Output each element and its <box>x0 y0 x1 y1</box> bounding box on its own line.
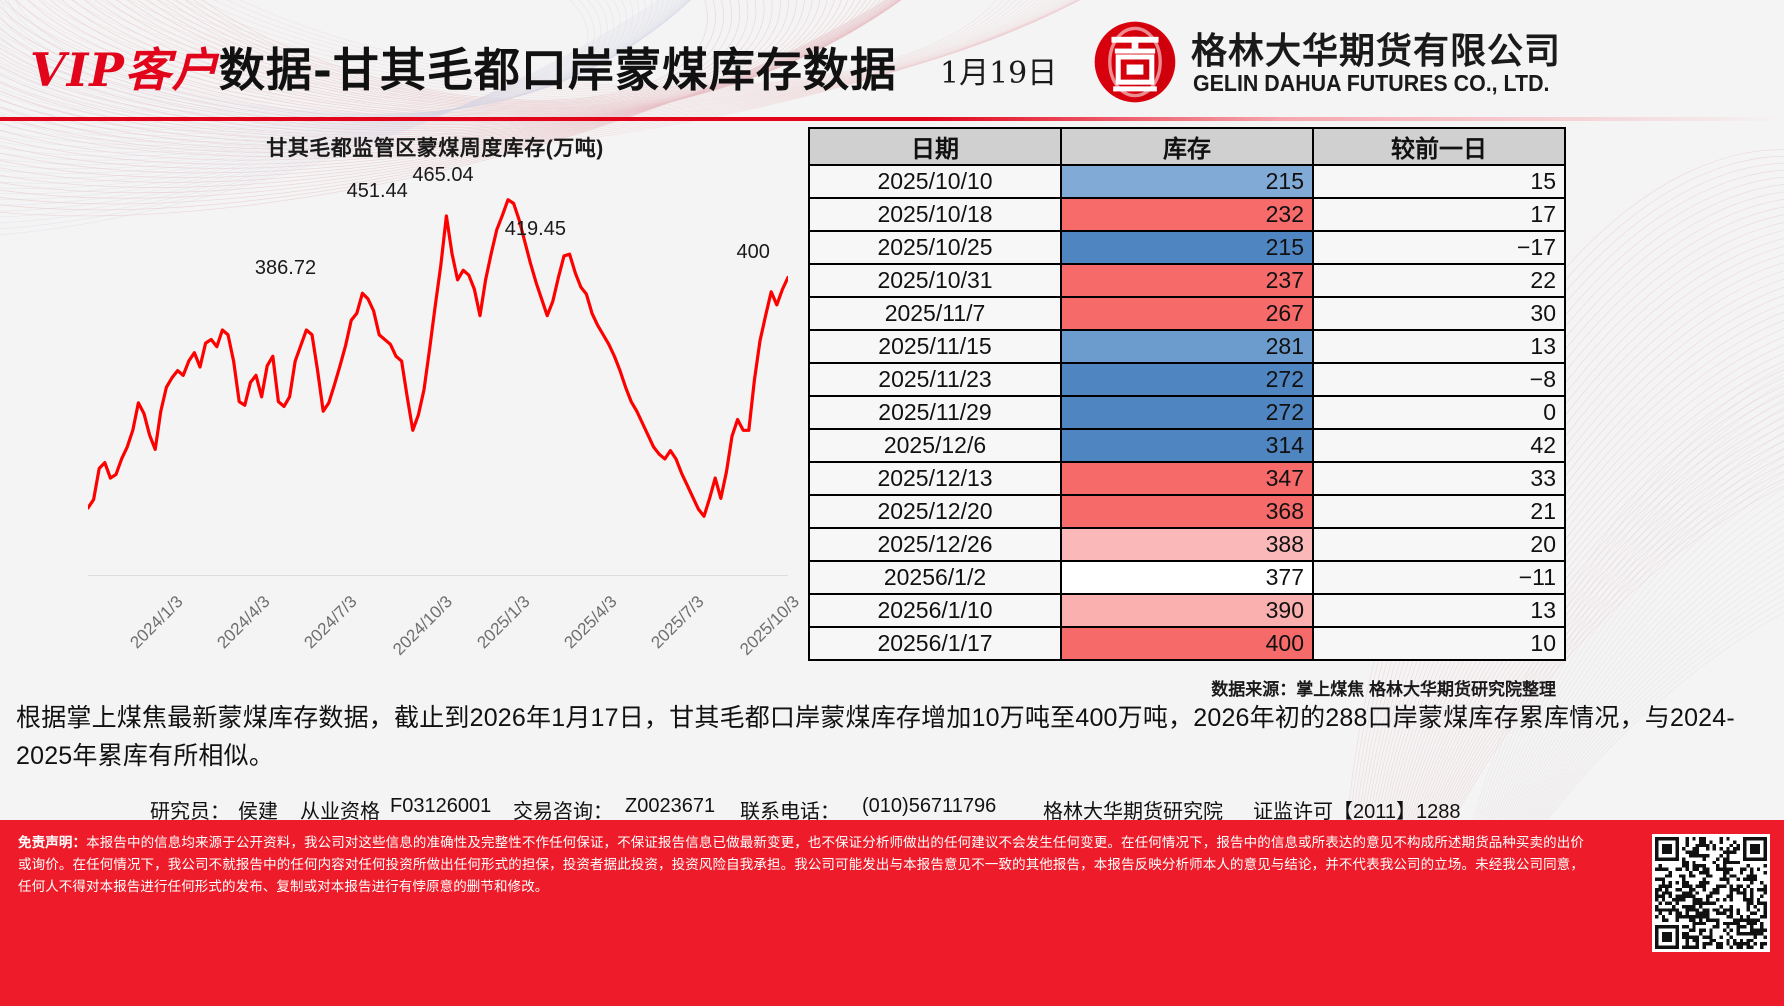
cell-date: 20256/1/10 <box>809 594 1061 627</box>
cell-date: 2025/10/31 <box>809 264 1061 297</box>
page-title: VIP客户数据-甘其毛都口岸蒙煤库存数据 <box>30 34 897 100</box>
cell-inventory: 281 <box>1061 330 1313 363</box>
chart-data-label: 400 <box>737 241 770 264</box>
cell-date: 2025/11/15 <box>809 330 1061 363</box>
page-header: VIP客户数据-甘其毛都口岸蒙煤库存数据 1月19日 格林大华期货有限公司 GE… <box>0 0 1784 118</box>
cell-date: 2025/10/25 <box>809 231 1061 264</box>
consult-number: Z0023671 <box>625 795 715 818</box>
cell-change: −8 <box>1313 363 1565 396</box>
phone-number: (010)56711796 <box>862 795 996 818</box>
column-header-inventory: 库存 <box>1061 128 1313 165</box>
disclaimer-label: 免责声明： <box>18 835 86 850</box>
x-axis-tick-label: 2025/1/3 <box>473 592 534 653</box>
disclaimer-banner: 免责声明：本报告中的信息均来源于公开资料，我公司对这些信息的准确性及完整性不作任… <box>0 820 1784 1006</box>
table-row: 2025/11/292720 <box>809 396 1565 429</box>
cell-inventory: 400 <box>1061 627 1313 660</box>
report-date: 1月19日 <box>940 48 1057 92</box>
inventory-table: 日期 库存 较前一日 2025/10/10215152025/10/182321… <box>808 127 1566 661</box>
table-row: 2025/10/25215−17 <box>809 231 1565 264</box>
header-divider <box>0 117 1784 121</box>
chart-data-label: 386.72 <box>255 257 316 280</box>
cell-date: 2025/10/18 <box>809 198 1061 231</box>
company-name-cn: 格林大华期货有限公司 <box>1191 22 1561 74</box>
x-axis-tick-label: 2024/4/3 <box>213 592 274 653</box>
table-row: 20256/1/1039013 <box>809 594 1565 627</box>
chart-data-label: 465.04 <box>412 164 473 187</box>
cell-change: 22 <box>1313 264 1565 297</box>
x-axis-tick-label: 2024/1/3 <box>126 592 187 653</box>
company-branding: 格林大华期货有限公司 GELIN DAHUA FUTURES CO., LTD. <box>1093 18 1773 106</box>
seal-logo-icon <box>1093 20 1177 104</box>
table-row: 2025/12/2638820 <box>809 528 1565 561</box>
cell-date: 20256/1/17 <box>809 627 1061 660</box>
cell-inventory: 314 <box>1061 429 1313 462</box>
x-axis-tick-label: 2024/7/3 <box>300 592 361 653</box>
cell-change: 15 <box>1313 165 1565 198</box>
cell-change: 42 <box>1313 429 1565 462</box>
x-axis-tick-label: 2025/10/3 <box>736 592 804 660</box>
disclaimer-text: 本报告中的信息均来源于公开资料，我公司对这些信息的准确性及完整性不作任何保证，不… <box>18 835 1584 894</box>
qr-code-icon <box>1652 834 1770 952</box>
cell-change: 30 <box>1313 297 1565 330</box>
cell-date: 2025/12/13 <box>809 462 1061 495</box>
cell-date: 2025/10/10 <box>809 165 1061 198</box>
cell-change: 10 <box>1313 627 1565 660</box>
table-row: 20256/1/2377−11 <box>809 561 1565 594</box>
cell-change: −17 <box>1313 231 1565 264</box>
chart-data-label: 451.44 <box>347 180 408 203</box>
chart-data-label: 419.45 <box>505 218 566 241</box>
data-source-note: 数据来源：掌上煤焦 格林大华期货研究院整理 <box>1211 675 1556 700</box>
cell-inventory: 272 <box>1061 363 1313 396</box>
inventory-table-container: 日期 库存 较前一日 2025/10/10215152025/10/182321… <box>808 127 1568 661</box>
table-row: 2025/11/23272−8 <box>809 363 1565 396</box>
table-row: 2025/10/3123722 <box>809 264 1565 297</box>
x-axis-tick-label: 2024/10/3 <box>389 592 457 660</box>
cell-date: 20256/1/2 <box>809 561 1061 594</box>
commentary-text: 根据掌上煤焦最新蒙煤库存数据，截止到2026年1月17日，甘其毛都口岸蒙煤库存增… <box>16 700 1766 775</box>
cell-inventory: 215 <box>1061 231 1313 264</box>
cell-change: 17 <box>1313 198 1565 231</box>
table-row: 2025/12/2036821 <box>809 495 1565 528</box>
table-row: 2025/12/631442 <box>809 429 1565 462</box>
table-row: 2025/10/1021515 <box>809 165 1565 198</box>
cell-date: 2025/11/7 <box>809 297 1061 330</box>
chart-plot-area <box>88 158 788 576</box>
inventory-chart: 甘其毛都监管区蒙煤周度库存(万吨) 500.00450.00400.00350.… <box>0 126 800 686</box>
table-row: 20256/1/1740010 <box>809 627 1565 660</box>
cell-date: 2025/12/26 <box>809 528 1061 561</box>
cell-change: 21 <box>1313 495 1565 528</box>
cell-inventory: 390 <box>1061 594 1313 627</box>
chart-line-svg <box>88 158 788 576</box>
cell-inventory: 368 <box>1061 495 1313 528</box>
cell-date: 2025/11/29 <box>809 396 1061 429</box>
cell-change: −11 <box>1313 561 1565 594</box>
cell-date: 2025/11/23 <box>809 363 1061 396</box>
cell-inventory: 215 <box>1061 165 1313 198</box>
cell-inventory: 377 <box>1061 561 1313 594</box>
page-title-vip: VIP客户 <box>30 43 219 97</box>
cell-date: 2025/12/20 <box>809 495 1061 528</box>
table-row: 2025/11/726730 <box>809 297 1565 330</box>
qualification-number: F03126001 <box>390 795 491 818</box>
cell-inventory: 347 <box>1061 462 1313 495</box>
cell-change: 20 <box>1313 528 1565 561</box>
cell-change: 13 <box>1313 594 1565 627</box>
column-header-date: 日期 <box>809 128 1061 165</box>
table-row: 2025/10/1823217 <box>809 198 1565 231</box>
cell-date: 2025/12/6 <box>809 429 1061 462</box>
cell-change: 0 <box>1313 396 1565 429</box>
cell-inventory: 388 <box>1061 528 1313 561</box>
x-axis-tick-label: 2025/7/3 <box>647 592 708 653</box>
company-name-en: GELIN DAHUA FUTURES CO., LTD. <box>1193 70 1549 97</box>
table-header-row: 日期 库存 较前一日 <box>809 128 1565 165</box>
cell-change: 13 <box>1313 330 1565 363</box>
table-row: 2025/11/1528113 <box>809 330 1565 363</box>
cell-inventory: 272 <box>1061 396 1313 429</box>
column-header-change: 较前一日 <box>1313 128 1565 165</box>
cell-inventory: 232 <box>1061 198 1313 231</box>
cell-inventory: 237 <box>1061 264 1313 297</box>
cell-change: 33 <box>1313 462 1565 495</box>
table-row: 2025/12/1334733 <box>809 462 1565 495</box>
x-axis-tick-label: 2025/4/3 <box>560 592 621 653</box>
cell-inventory: 267 <box>1061 297 1313 330</box>
page-title-rest: 数据-甘其毛都口岸蒙煤库存数据 <box>219 43 897 97</box>
